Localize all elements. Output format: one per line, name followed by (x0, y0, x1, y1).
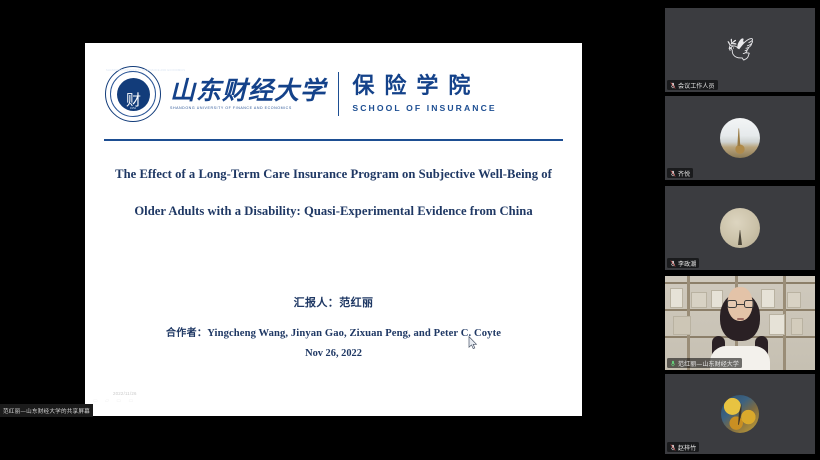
mic-muted-icon (670, 82, 676, 89)
presentation-slide: SHANDONG UNIVERSITY OF FINANCE AND ECONO… (85, 43, 582, 416)
participant-tile-1[interactable]: 🕊 会议工作人员 (665, 8, 815, 92)
participant-avatar-3 (720, 208, 760, 248)
mic-muted-icon (670, 444, 676, 451)
participant-name-5: 赵梓竹 (678, 443, 696, 452)
participant-label-4: 范红丽—山东财经大学 (667, 358, 742, 368)
slide-footer-date: 2022/11/26 (113, 391, 137, 396)
participant-tile-2[interactable]: 齐悦 (665, 96, 815, 180)
slide-logo-band: SHANDONG UNIVERSITY OF FINANCE AND ECONO… (85, 57, 582, 131)
crest-arc-text: SHANDONG UNIVERSITY OF FINANCE AND ECONO… (106, 69, 160, 72)
shared-screen-stage[interactable]: SHANDONG UNIVERSITY OF FINANCE AND ECONO… (0, 0, 660, 460)
mic-active-icon (670, 360, 676, 367)
participant-tile-5[interactable]: 赵梓竹 (665, 374, 815, 454)
logo-divider (338, 72, 339, 116)
participant-label-2: 齐悦 (667, 168, 693, 178)
title-line-2: Older Adults with a Disability: Quasi-Ex… (97, 204, 570, 220)
university-name-cn: 山东财经大学 (170, 78, 326, 104)
coauthors-names: Yingcheng Wang, Jinyan Gao, Zixuan Peng,… (207, 328, 501, 339)
mic-muted-icon (670, 260, 676, 267)
participant-label-3: 李政潮 (667, 258, 699, 268)
participant-avatar-2 (720, 118, 760, 158)
screen-share-banner-text: 范红丽—山东财经大学的共享屏幕 (3, 407, 90, 415)
crest-year: 1952 (117, 106, 150, 110)
mic-muted-icon (670, 170, 676, 177)
school-name-cn: 保险学院 (352, 75, 496, 99)
zoom-meeting-window: SHANDONG UNIVERSITY OF FINANCE AND ECONO… (0, 0, 820, 460)
slide-date: Nov 26, 2022 (85, 348, 582, 359)
participant-label-1: 会议工作人员 (667, 80, 718, 90)
school-name-en: SCHOOL OF INSURANCE (352, 103, 496, 113)
coauthors-label: 合作者： (166, 328, 207, 339)
presenter-line: 汇报人：范红丽 (85, 294, 582, 310)
participant-name-2: 齐悦 (678, 169, 690, 178)
slide-header-rule (104, 139, 563, 141)
university-crest-icon: SHANDONG UNIVERSITY OF FINANCE AND ECONO… (105, 66, 161, 122)
coauthors-line: 合作者：Yingcheng Wang, Jinyan Gao, Zixuan P… (85, 323, 582, 341)
participant-label-5: 赵梓竹 (667, 442, 699, 452)
participant-tile-3[interactable]: 李政潮 (665, 186, 815, 270)
participant-name-1: 会议工作人员 (678, 81, 715, 90)
participant-name-4: 范红丽—山东财经大学 (678, 359, 739, 368)
participant-name-3: 李政潮 (678, 259, 696, 268)
speaker-face (728, 287, 753, 321)
webcam-video-feed (665, 276, 815, 370)
slide-footer-icons: ▭ ▱ ▭ ▭ (93, 398, 136, 404)
participant-avatar-5 (721, 395, 759, 433)
screen-share-banner: 范红丽—山东财经大学的共享屏幕 (0, 404, 93, 417)
participant-rail: 🕊 会议工作人员 齐悦 (660, 0, 820, 460)
participant-tile-4-active-speaker[interactable]: 范红丽—山东财经大学 (665, 276, 815, 370)
university-name-en: SHANDONG UNIVERSITY OF FINANCE AND ECONO… (170, 106, 326, 110)
pigeon-icon: 🕊 (725, 37, 755, 63)
title-line-1: The Effect of a Long-Term Care Insurance… (97, 167, 570, 183)
slide-title: The Effect of a Long-Term Care Insurance… (97, 167, 570, 219)
glasses-icon (727, 300, 754, 308)
